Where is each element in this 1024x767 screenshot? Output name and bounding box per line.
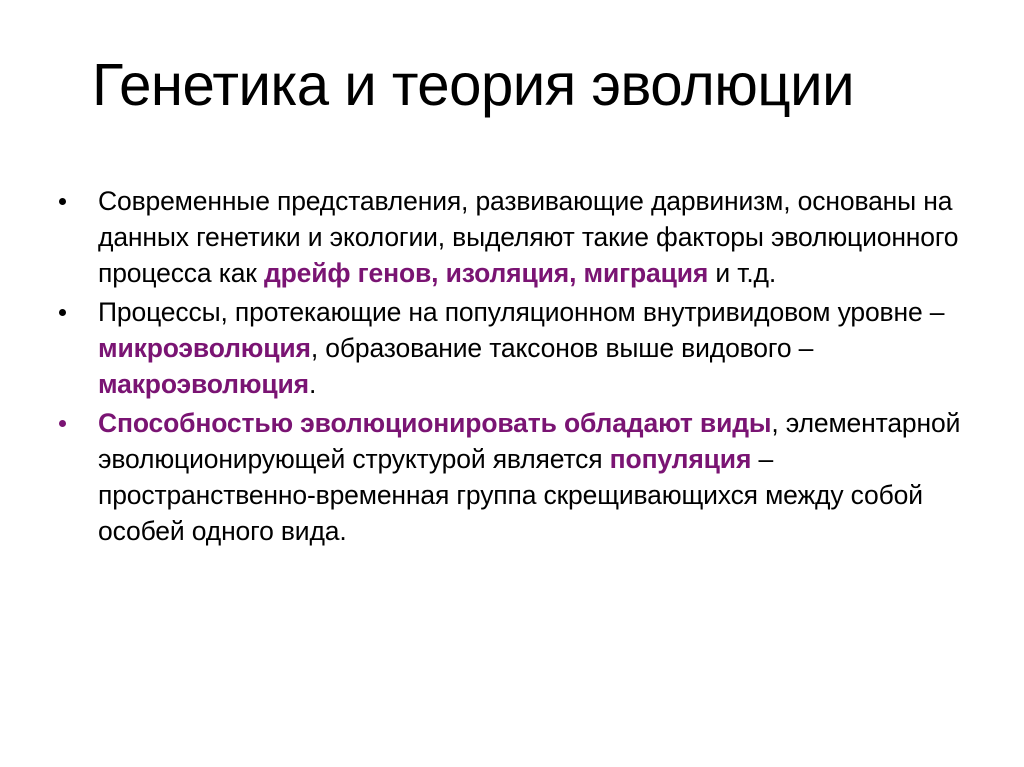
list-item: Способностью эволюционировать обладают в…: [46, 405, 996, 549]
bullet-segment-text: Процессы, протекающие на популяционном в…: [98, 297, 944, 327]
bullet-dot-icon: [59, 198, 66, 205]
bullet-segment-text: и т.д.: [708, 258, 776, 288]
bullet-segment-accent: популяция: [610, 444, 752, 474]
page-title: Генетика и теория эволюции: [92, 52, 939, 118]
bullet-dot-icon: [59, 420, 66, 427]
list-item: Современные представления, развивающие д…: [46, 183, 996, 291]
bullet-dot-icon: [59, 309, 66, 316]
bullet-segment-accent: макроэволюция: [98, 369, 309, 399]
bullet-segment-text: , образование таксонов выше видового –: [311, 333, 813, 363]
bullet-segment-accent: Способностью эволюционировать обладают в…: [98, 408, 771, 438]
list-item: Процессы, протекающие на популяционном в…: [46, 294, 996, 402]
bullet-segment-text: .: [309, 369, 316, 399]
bullet-list: Современные представления, развивающие д…: [46, 183, 996, 552]
bullet-segment-accent: дрейф генов, изоляция, миграция: [264, 258, 708, 288]
bullet-segment-accent: микроэволюция: [98, 333, 311, 363]
slide-canvas: Генетика и теория эволюции Современные п…: [0, 0, 1024, 767]
